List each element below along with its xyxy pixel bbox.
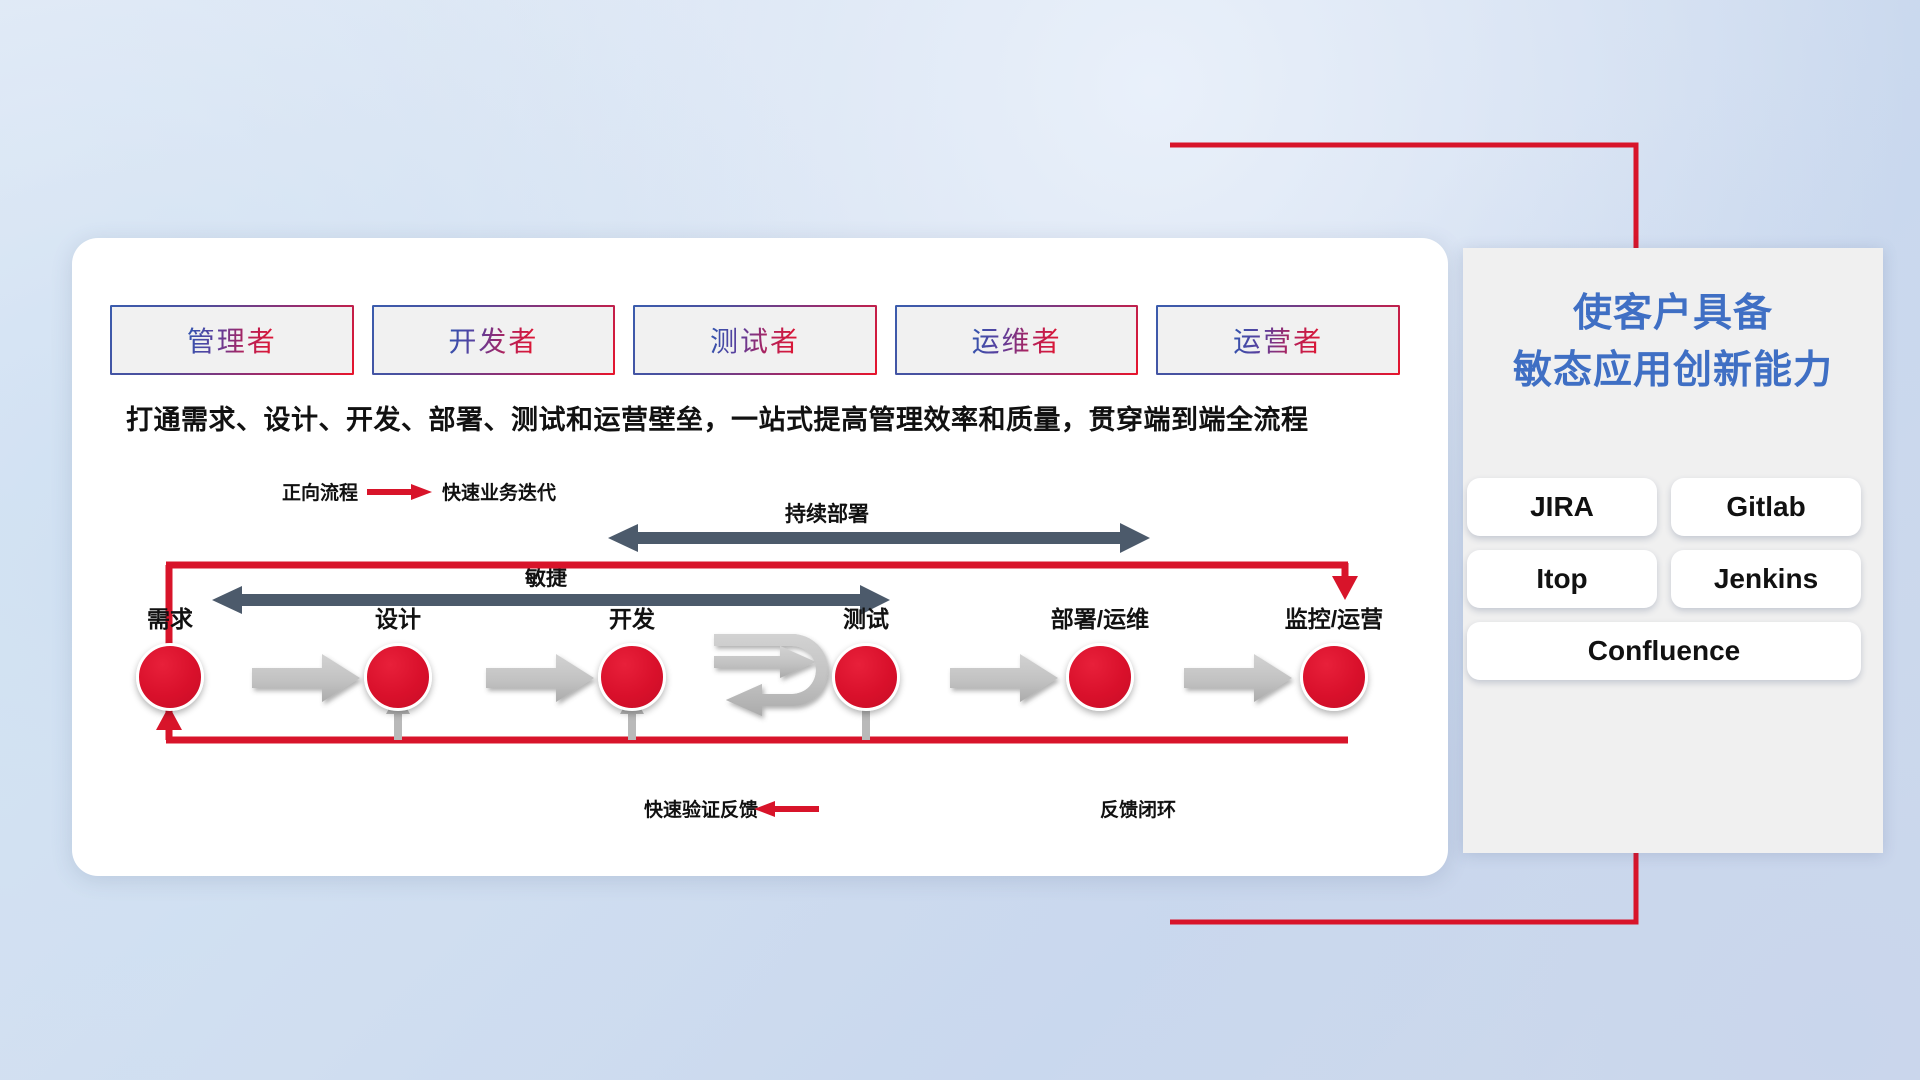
role-label: 运营者 — [1233, 320, 1323, 360]
capability-panel-title: 使客户具备 敏态应用创新能力 — [1473, 286, 1873, 399]
stage-node-development[interactable]: 开发 — [572, 608, 692, 711]
agile-label: 敏捷 — [525, 562, 567, 592]
slide-canvas: 管理者 开发者 测试者 运维者 运营者 打通需求、设计、开发、部署、测试和运营壁… — [0, 0, 1920, 1080]
stage-dot — [1066, 643, 1134, 711]
continuous-deploy-label: 持续部署 — [785, 498, 869, 528]
feedback-result: 快速验证反馈 — [644, 795, 758, 822]
feedback-label: 反馈闭环 — [1100, 795, 1176, 822]
stage-node-design[interactable]: 设计 — [338, 608, 458, 711]
forward-flow-annotation: 正向流程 快速业务迭代 — [282, 478, 556, 505]
capability-title-line2: 敏态应用创新能力 — [1473, 343, 1873, 400]
stage-label: 测试 — [806, 608, 926, 631]
capability-title-line1: 使客户具备 — [1473, 286, 1873, 343]
role-box-ops[interactable]: 运维者 — [895, 305, 1139, 375]
stage-dot — [598, 643, 666, 711]
tool-button-group: JIRA Gitlab Itop Jenkins Confluence — [1467, 478, 1879, 680]
stage-label: 设计 — [338, 608, 458, 631]
role-label: 测试者 — [710, 320, 800, 360]
stage-dot — [1300, 643, 1368, 711]
stage-node-row: 需求 设计 开发 测试 部署/运维 监控/运营 — [110, 608, 1400, 728]
stage-node-deploy-ops[interactable]: 部署/运维 — [1040, 608, 1160, 711]
role-label: 运维者 — [972, 320, 1062, 360]
stage-node-testing[interactable]: 测试 — [806, 608, 926, 711]
role-box-row: 管理者 开发者 测试者 运维者 运营者 — [110, 305, 1400, 375]
stage-dot — [364, 643, 432, 711]
role-box-manager[interactable]: 管理者 — [110, 305, 354, 375]
description-text: 打通需求、设计、开发、部署、测试和运营壁垒，一站式提高管理效率和质量，贯穿端到端… — [126, 398, 1396, 437]
role-label: 管理者 — [187, 320, 277, 360]
stage-label: 开发 — [572, 608, 692, 631]
stage-label: 需求 — [110, 608, 230, 631]
role-box-developer[interactable]: 开发者 — [372, 305, 616, 375]
forward-flow-result: 快速业务迭代 — [442, 478, 556, 505]
tool-button-itop[interactable]: Itop — [1467, 550, 1657, 608]
role-box-tester[interactable]: 测试者 — [633, 305, 877, 375]
tool-button-gitlab[interactable]: Gitlab — [1671, 478, 1861, 536]
arrow-left-red-icon — [754, 799, 820, 819]
forward-flow-label: 正向流程 — [282, 478, 358, 505]
role-box-operations[interactable]: 运营者 — [1156, 305, 1400, 375]
tool-button-jenkins[interactable]: Jenkins — [1671, 550, 1861, 608]
stage-dot — [832, 643, 900, 711]
stage-node-requirement[interactable]: 需求 — [110, 608, 230, 711]
tool-button-confluence[interactable]: Confluence — [1467, 622, 1861, 680]
stage-label: 部署/运维 — [1040, 608, 1160, 631]
arrow-right-red-icon — [367, 482, 433, 502]
tool-button-jira[interactable]: JIRA — [1467, 478, 1657, 536]
stage-label: 监控/运营 — [1274, 608, 1394, 631]
role-label: 开发者 — [448, 320, 538, 360]
stage-dot — [136, 643, 204, 711]
stage-node-monitor-operations[interactable]: 监控/运营 — [1274, 608, 1394, 711]
